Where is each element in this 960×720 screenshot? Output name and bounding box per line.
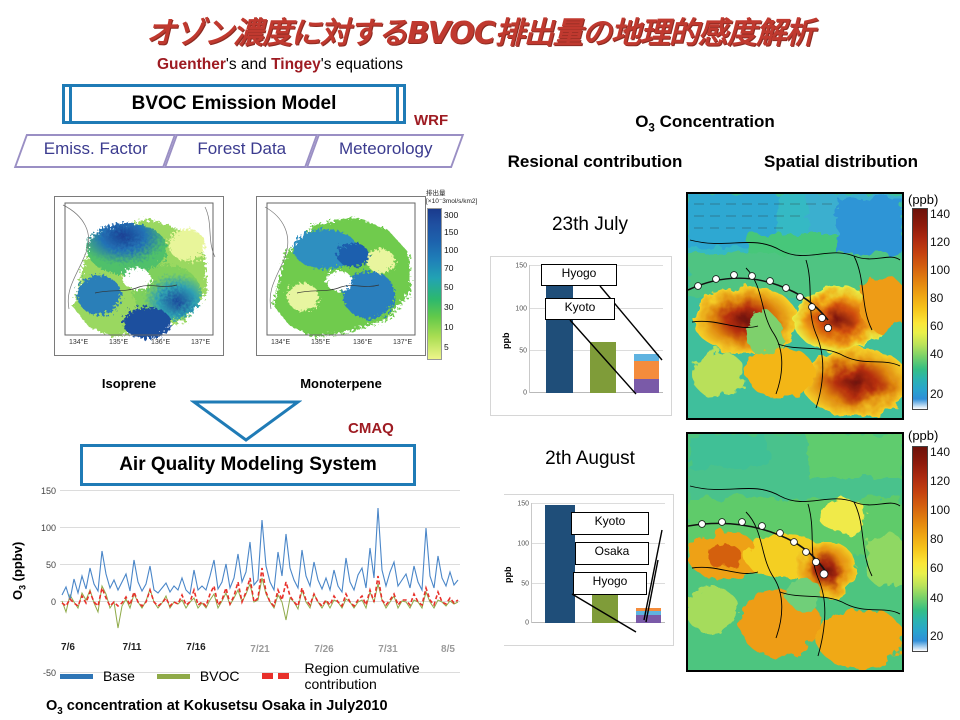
spatial-cbar-july-80: 80 [930,291,943,305]
tingey-name: Tingey [271,56,321,73]
callout-kyoto-august: Kyoto [571,512,649,535]
monoterpene-lon-136e: 136°E [353,339,372,346]
equations-mid: 's and [226,56,271,73]
emission-colorbar-unit: [×10⁻3mol/s/km2] [426,198,477,205]
timeseries-series-lines [60,490,460,638]
input-forest-data-label: Forest Data [173,136,311,162]
page-title: オゾン濃度に対するBVOC排出量の地理的感度解析 [0,8,960,52]
spatial-cbar-aug-40: 40 [930,591,943,605]
callout-hyogo-august: Hyogo [573,572,647,595]
spatial-map-august-raster [688,434,902,670]
emission-colorbar-title-jp: 排出量 [426,190,446,197]
ts-xtick-7-11: 7/11 [123,642,142,653]
input-emiss-factor: Emiss. Factor [14,134,176,168]
emission-cbar-tick-300: 300 [444,210,458,220]
callout-kyoto-july: Kyoto [545,298,615,320]
spatial-cbar-july-120: 120 [930,235,950,249]
legend-label-bvoc: BVOC [200,668,240,684]
legend-swatch-bvoc [157,674,190,679]
callout-leader-kyoto-july [566,318,656,398]
ts-ytick-neg50: -50 [43,668,56,678]
timeseries-ylabel: O3 (ppbv) [10,542,28,600]
equations-tail: 's equations [321,56,403,73]
ts-caption-o: O [46,698,57,714]
monoterpene-lon-135e: 135°E [311,339,330,346]
spatial-cbar-july-40: 40 [930,347,943,361]
ts-ytick-0: 0 [51,597,56,607]
timeseries-caption: O3 concentration at Kokusetsu Osaka in J… [46,698,388,717]
emission-cbar-tick-10: 10 [444,322,453,332]
isoprene-lon-137e: 137°E [191,339,210,346]
legend-swatch-region [262,673,295,679]
callout-hyogo-july: Hyogo [541,264,617,286]
chart-july-ytick-150: 150 [515,263,527,270]
spatial-colorbar-july [912,208,928,410]
ts-ytick-150: 150 [41,486,56,496]
monoterpene-lon-137e: 137°E [393,339,412,346]
isoprene-lon-134e: 134°E [69,339,88,346]
guenther-name: Guenther [157,56,226,73]
chart-july-ytick-0: 0 [523,390,527,397]
emission-colorbar-title: 排出量 [×10⁻3mol/s/km2] [426,190,496,206]
chart-august-ytick-150: 150 [517,501,529,508]
ts-xtick-7-6: 7/6 [61,642,75,653]
chart-august-ytick-100: 100 [517,540,529,547]
spatial-map-july-raster [688,194,902,418]
legend-label-base: Base [103,668,135,684]
ts-xtick-8-5: 8/5 [441,644,455,655]
aqms-label: Air Quality Modeling System [119,454,377,476]
bvoc-emission-model-box: BVOC Emission Model [62,84,406,124]
o3-concentration-header: O3 Concentration [560,112,850,134]
cmaq-label: CMAQ [348,420,394,437]
spatial-cbar-july-100: 100 [930,263,950,277]
spatial-cbar-aug-80: 80 [930,532,943,546]
isoprene-map: 36°N 35°N 34°N 134°E 135°E 136°E 137°E [54,196,224,356]
ts-xtick-7-26: 7/26 [314,644,333,655]
timeseries-chart: 150 100 50 0 -50 7/6 7/11 7/16 7/21 7/26… [14,486,504,676]
spatial-unit-label-july: (ppb) [908,192,938,207]
spatial-cbar-aug-100: 100 [930,503,950,517]
chart-august-ytick-50: 50 [521,580,529,587]
emission-cbar-tick-100: 100 [444,245,458,255]
callout-osaka-august: Osaka [575,542,649,565]
chart-july-ytick-50: 50 [519,348,527,355]
monoterpene-map-raster [257,197,425,355]
monoterpene-lon-134e: 134°E [271,339,290,346]
flow-arrow-down [190,398,302,442]
emission-cbar-tick-150: 150 [444,227,458,237]
isoprene-lon-136e: 136°E [151,339,170,346]
monoterpene-caption: Monoterpene [276,376,406,391]
emission-cbar-tick-70: 70 [444,263,453,273]
legend-swatch-base [60,674,93,679]
isoprene-map-raster [55,197,223,355]
ts-xtick-7-21: 7/21 [250,644,269,655]
spatial-map-august-2 [686,432,904,672]
chart-july-ylabel: ppb [501,333,511,350]
chart-july-ytick-100: 100 [515,305,527,312]
regional-contribution-header: Resional contribution [470,152,720,172]
chart-august-ylabel: ppb [503,567,513,584]
spatial-distribution-header: Spatial distribution [722,152,960,172]
ts-ylabel-sub: 3 [18,585,28,590]
ts-caption-text: concentration at Kokusetsu Osaka in July… [63,698,388,714]
input-emiss-factor-label: Emiss. Factor [23,136,169,162]
bvoc-emission-model-label: BVOC Emission Model [132,93,337,115]
equations-subtitle: Guenther's and Tingey's equations [0,56,560,74]
spatial-cbar-july-20: 20 [930,387,943,401]
spatial-cbar-july-140: 140 [930,207,950,221]
callout-leader-hyogo-august [570,592,650,636]
input-meteorology-label: Meteorology [315,136,457,162]
emission-cbar-tick-50: 50 [444,282,453,292]
ts-xtick-7-16: 7/16 [186,642,205,653]
spatial-cbar-aug-20: 20 [930,629,943,643]
emission-cbar-tick-30: 30 [444,302,453,312]
ts-ytick-100: 100 [41,523,56,533]
isoprene-lon-135e: 135°E [109,339,128,346]
chart-title-july-23: 23th July [500,214,680,236]
spatial-cbar-july-60: 60 [930,319,943,333]
ts-xtick-7-31: 7/31 [378,644,397,655]
air-quality-modeling-system-box: Air Quality Modeling System [80,444,416,486]
monoterpene-map: 36°N 35°N 34°N 134°E 135°E 136°E 137°E [256,196,426,356]
spatial-colorbar-august [912,446,928,652]
input-meteorology: Meteorology [306,134,464,168]
legend-label-region: Region cumulative contribution [304,660,490,692]
isoprene-caption: Isoprene [74,376,184,391]
emission-cbar-tick-5: 5 [444,342,449,352]
timeseries-legend: Base BVOC Region cumulative contribution [60,660,490,692]
spatial-cbar-aug-140: 140 [930,445,950,459]
spatial-map-july-23 [686,192,904,420]
spatial-cbar-aug-120: 120 [930,474,950,488]
ts-ylabel-unit: (ppbv) [10,542,25,585]
ts-ytick-50: 50 [46,560,56,570]
chart-title-august-2: 2th August [500,448,680,470]
spatial-cbar-aug-60: 60 [930,561,943,575]
emission-colorbar [427,208,442,360]
input-forest-data: Forest Data [164,134,318,168]
ts-ylabel-o: O [10,590,25,600]
o3-header-text: Concentration [660,112,775,131]
spatial-unit-label-august: (ppb) [908,428,938,443]
chart-august-ytick-0: 0 [525,620,529,627]
wrf-label: WRF [414,112,448,129]
timeseries-plot: 150 100 50 0 [60,490,460,638]
